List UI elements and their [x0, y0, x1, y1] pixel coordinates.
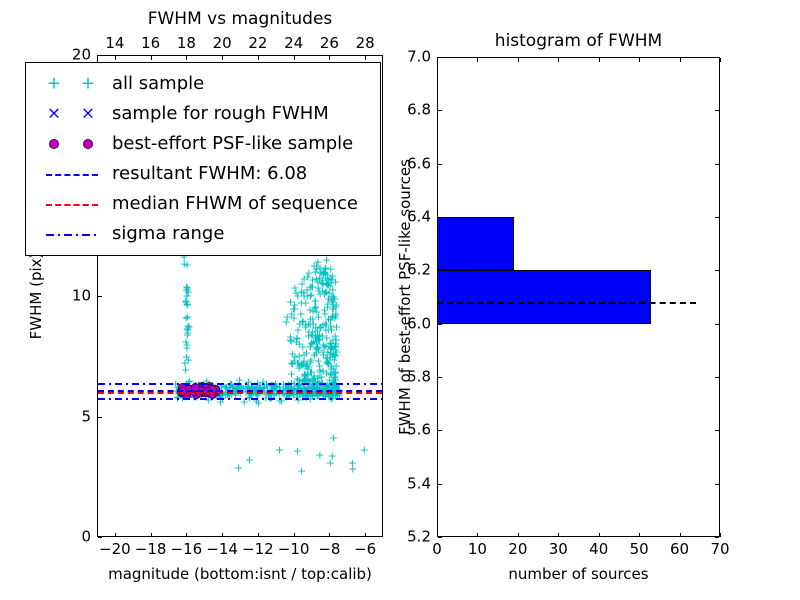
- scatter-point-all-sample: +: [184, 355, 193, 366]
- right-yaxis-label: FWHM of best-effort PSF-like sources: [397, 159, 413, 435]
- scatter-point-all-sample: +: [286, 331, 295, 342]
- scatter-point-all-sample: +: [182, 352, 191, 363]
- legend-item[interactable]: best-effort PSF-like sample: [34, 129, 370, 159]
- scatter-point-all-sample: +: [329, 348, 338, 359]
- histogram-median-line: [437, 302, 696, 304]
- scatter-point-all-sample: +: [310, 350, 319, 361]
- scatter-point-all-sample: +: [286, 335, 295, 346]
- scatter-point-all-sample: +: [330, 312, 339, 323]
- right-xtick-top: [639, 58, 640, 62]
- legend-item-label: sigma range: [112, 224, 224, 244]
- scatter-point-all-sample: +: [322, 333, 331, 344]
- legend-item-label: all sample: [112, 74, 204, 94]
- scatter-point-all-sample: +: [326, 341, 335, 352]
- scatter-point-all-sample: +: [309, 370, 318, 381]
- scatter-point-all-sample: +: [296, 308, 305, 319]
- scatter-point-all-sample: +: [328, 291, 337, 302]
- scatter-point-all-sample: +: [328, 284, 337, 295]
- scatter-point-all-sample: +: [320, 318, 329, 329]
- scatter-point-all-sample: +: [323, 347, 332, 358]
- scatter-point-all-sample: +: [306, 291, 315, 302]
- left-xtick-bottom: [151, 533, 152, 537]
- scatter-point-all-sample: +: [326, 360, 335, 371]
- legend-item[interactable]: resultant FWHM: 6.08: [34, 159, 370, 189]
- scatter-point-all-sample: +: [328, 351, 337, 362]
- scatter-point-all-sample: +: [298, 358, 307, 369]
- scatter-point-all-sample: +: [298, 278, 307, 289]
- right-xtick-top: [518, 58, 519, 62]
- histogram-bar: [437, 217, 514, 270]
- scatter-point-all-sample: +: [313, 257, 322, 268]
- right-xtick-label: 40: [589, 542, 608, 557]
- scatter-point-all-sample: +: [331, 331, 340, 342]
- left-xtick-top: [258, 56, 259, 60]
- right-ytick-right: [715, 377, 719, 378]
- scatter-point-all-sample: +: [320, 288, 329, 299]
- scatter-point-all-sample: +: [298, 341, 307, 352]
- scatter-point-all-sample: +: [328, 297, 337, 308]
- scatter-point-all-sample: +: [319, 268, 328, 279]
- scatter-point-all-sample: +: [326, 273, 335, 284]
- scatter-point-all-sample: +: [323, 358, 332, 369]
- scatter-point-all-sample: +: [182, 284, 191, 295]
- left-ytick: [98, 296, 102, 297]
- scatter-point-all-sample: +: [303, 271, 312, 282]
- scatter-point-all-sample: +: [182, 285, 191, 296]
- left-xtick-bottom: [186, 533, 187, 537]
- scatter-point-all-sample: +: [311, 323, 320, 334]
- plus-icon: +: [47, 76, 61, 93]
- left-xtick-top: [365, 56, 366, 60]
- scatter-point-all-sample: +: [312, 273, 321, 284]
- scatter-point-all-sample: +: [180, 258, 189, 269]
- scatter-point-all-sample: +: [318, 331, 327, 342]
- left-xtick-bottom: [329, 533, 330, 537]
- scatter-point-all-sample: +: [314, 372, 323, 383]
- scatter-point-all-sample: +: [307, 339, 316, 350]
- legend-item[interactable]: ××sample for rough FWHM: [34, 99, 370, 129]
- scatter-point-all-sample: +: [180, 358, 189, 369]
- scatter-point-all-sample: +: [308, 329, 317, 340]
- legend-item-label: best-effort PSF-like sample: [112, 134, 353, 154]
- legend-item[interactable]: median FHWM of sequence: [34, 189, 370, 219]
- scatter-point-all-sample: +: [301, 369, 310, 380]
- scatter-point-all-sample: +: [318, 274, 327, 285]
- left-xtick-label-bottom: −18: [135, 542, 167, 557]
- scatter-point-all-sample: +: [183, 299, 192, 310]
- scatter-point-all-sample: +: [318, 320, 327, 331]
- scatter-point-all-sample: +: [319, 340, 328, 351]
- scatter-point-all-sample: +: [325, 288, 334, 299]
- right-xtick-top: [680, 58, 681, 62]
- scatter-point-all-sample: +: [306, 367, 315, 378]
- scatter-point-all-sample: +: [183, 312, 192, 323]
- right-xtick: [558, 533, 559, 537]
- cross-icon: ×: [81, 106, 95, 123]
- right-ytick-label: 5.4: [407, 476, 431, 491]
- scatter-point-all-sample: +: [301, 320, 310, 331]
- scatter-point-all-sample: +: [318, 347, 327, 358]
- scatter-point-all-sample: +: [319, 279, 328, 290]
- right-ytick-label: 7.0: [407, 50, 431, 65]
- scatter-point-all-sample: +: [313, 372, 322, 383]
- scatter-point-all-sample: +: [312, 307, 321, 318]
- left-xtick-bottom: [258, 533, 259, 537]
- scatter-point-all-sample: +: [313, 342, 322, 353]
- scatter-point-all-sample: +: [307, 367, 316, 378]
- right-ytick-right: [715, 537, 719, 538]
- left-ytick: [98, 55, 102, 56]
- scatter-point-all-sample: +: [287, 335, 296, 346]
- scatter-point-all-sample: +: [325, 380, 334, 391]
- scatter-point-all-sample: +: [297, 359, 306, 370]
- right-plot-data-layer: [438, 58, 719, 536]
- scatter-point-all-sample: +: [183, 325, 192, 336]
- scatter-point-all-sample: +: [316, 268, 325, 279]
- left-ytick: [98, 537, 102, 538]
- scatter-point-all-sample: +: [183, 327, 192, 338]
- scatter-point-all-sample: +: [295, 318, 304, 329]
- scatter-point-all-sample: +: [289, 356, 298, 367]
- left-xtick-label-top: 18: [177, 36, 196, 51]
- right-ytick: [438, 110, 442, 111]
- left-xtick-top: [294, 56, 295, 60]
- scatter-point-all-sample: +: [323, 269, 332, 280]
- scatter-point-all-sample: +: [327, 341, 336, 352]
- scatter-point-all-sample: +: [297, 298, 306, 309]
- legend-item[interactable]: ++all sample: [34, 69, 370, 99]
- scatter-point-all-sample: +: [328, 303, 337, 314]
- legend-item-label: resultant FWHM: 6.08: [112, 164, 307, 184]
- scatter-point-all-sample: +: [326, 343, 335, 354]
- scatter-point-all-sample: +: [331, 339, 340, 350]
- scatter-point-all-sample: +: [309, 318, 318, 329]
- right-xtick-label: 70: [710, 542, 729, 557]
- scatter-point-all-sample: +: [327, 342, 336, 353]
- right-xtick: [639, 533, 640, 537]
- scatter-point-all-sample: +: [311, 302, 320, 313]
- scatter-point-all-sample: +: [298, 317, 307, 328]
- plus-icon: +: [81, 76, 95, 93]
- scatter-point-all-sample: +: [320, 266, 329, 277]
- scatter-point-all-sample: +: [326, 350, 335, 361]
- scatter-point-all-sample: +: [183, 259, 192, 270]
- scatter-point-all-sample: +: [325, 354, 334, 365]
- left-xtick-label-bottom: −14: [206, 542, 238, 557]
- scatter-point-all-sample: +: [275, 444, 284, 455]
- scatter-point-all-sample: +: [319, 349, 328, 360]
- left-xtick-label-top: 14: [105, 36, 124, 51]
- scatter-point-all-sample: +: [332, 347, 341, 358]
- scatter-point-all-sample: +: [329, 303, 338, 314]
- scatter-point-all-sample: +: [293, 358, 302, 369]
- scatter-point-all-sample: +: [313, 326, 322, 337]
- scatter-point-all-sample: +: [328, 311, 337, 322]
- scatter-point-all-sample: +: [295, 361, 304, 372]
- right-ytick: [438, 164, 442, 165]
- scatter-point-all-sample: +: [321, 272, 330, 283]
- right-xtick: [680, 533, 681, 537]
- scatter-point-all-sample: +: [331, 302, 340, 313]
- scatter-point-all-sample: +: [311, 332, 320, 343]
- legend-handle-plus-marker: ++: [34, 69, 112, 99]
- scatter-point-all-sample: +: [323, 279, 332, 290]
- scatter-point-all-sample: +: [309, 261, 318, 272]
- scatter-point-all-sample: +: [314, 344, 323, 355]
- right-xtick-top: [558, 58, 559, 62]
- scatter-point-all-sample: +: [322, 286, 331, 297]
- right-ytick: [438, 484, 442, 485]
- right-xtick-label: 50: [630, 542, 649, 557]
- left-xtick-bottom: [222, 533, 223, 537]
- scatter-point-all-sample: +: [306, 341, 315, 352]
- left-xtick-label-top: 28: [356, 36, 375, 51]
- scatter-point-all-sample: +: [310, 350, 319, 361]
- scatter-point-all-sample: +: [318, 267, 327, 278]
- left-xtick-label-top: 20: [213, 36, 232, 51]
- scatter-point-all-sample: +: [328, 270, 337, 281]
- scatter-point-all-sample: +: [312, 348, 321, 359]
- left-ytick-label: 0: [81, 530, 91, 545]
- left-xtick-top: [222, 56, 223, 60]
- left-yaxis-label: FWHM (pix): [28, 253, 44, 340]
- scatter-point-all-sample: +: [308, 313, 317, 324]
- hline-median-fhwm-of-sequence: [98, 392, 382, 394]
- scatter-point-all-sample: +: [286, 297, 295, 308]
- dashed-line-icon: [46, 204, 98, 206]
- scatter-point-all-sample: +: [311, 330, 320, 341]
- scatter-point-all-sample: +: [294, 358, 303, 369]
- scatter-point-all-sample: +: [305, 304, 314, 315]
- right-ytick-right: [715, 324, 719, 325]
- scatter-point-all-sample: +: [331, 311, 340, 322]
- cross-icon: ×: [47, 106, 61, 123]
- scatter-point-all-sample: +: [182, 290, 191, 301]
- scatter-point-all-sample: +: [323, 352, 332, 363]
- right-xtick: [518, 533, 519, 537]
- right-ytick-right: [715, 430, 719, 431]
- right-ytick-right: [715, 217, 719, 218]
- scatter-point-all-sample: +: [328, 450, 337, 461]
- scatter-point-all-sample: +: [182, 312, 191, 323]
- scatter-point-all-sample: +: [317, 267, 326, 278]
- scatter-point-all-sample: +: [314, 334, 323, 345]
- scatter-point-all-sample: +: [331, 342, 340, 353]
- scatter-point-all-sample: +: [295, 351, 304, 362]
- scatter-point-all-sample: +: [331, 309, 340, 320]
- scatter-point-all-sample: +: [329, 291, 338, 302]
- scatter-point-all-sample: +: [283, 311, 292, 322]
- scatter-point-all-sample: +: [306, 341, 315, 352]
- scatter-point-all-sample: +: [290, 351, 299, 362]
- scatter-point-all-sample: +: [317, 278, 326, 289]
- right-xtick-top: [720, 58, 721, 62]
- scatter-point-all-sample: +: [331, 277, 340, 288]
- scatter-point-all-sample: +: [297, 287, 306, 298]
- scatter-point-all-sample: +: [321, 340, 330, 351]
- right-ytick-right: [715, 164, 719, 165]
- scatter-point-all-sample: +: [330, 340, 339, 351]
- dashdot-line-icon: [46, 234, 98, 236]
- scatter-point-all-sample: +: [302, 361, 311, 372]
- scatter-point-all-sample: +: [312, 264, 321, 275]
- scatter-point-all-sample: +: [314, 282, 323, 293]
- scatter-point-all-sample: +: [303, 369, 312, 380]
- right-ytick: [438, 324, 442, 325]
- scatter-point-all-sample: +: [321, 352, 330, 363]
- scatter-point-all-sample: +: [301, 322, 310, 333]
- scatter-point-all-sample: +: [348, 463, 357, 474]
- scatter-point-all-sample: +: [329, 432, 338, 443]
- scatter-point-all-sample: +: [294, 395, 303, 406]
- right-xtick-label: 20: [508, 542, 527, 557]
- scatter-point-all-sample: +: [330, 355, 339, 366]
- scatter-point-all-sample: +: [294, 380, 303, 391]
- scatter-point-all-sample: +: [320, 305, 329, 316]
- scatter-point-all-sample: +: [320, 268, 329, 279]
- scatter-point-all-sample: +: [325, 280, 334, 291]
- scatter-point-all-sample: +: [184, 320, 193, 331]
- hline-sigma-range-lower: [98, 398, 382, 400]
- scatter-point-all-sample: +: [312, 336, 321, 347]
- scatter-point-all-sample: +: [326, 338, 335, 349]
- scatter-point-all-sample: +: [327, 274, 336, 285]
- scatter-point-all-sample: +: [348, 457, 357, 468]
- scatter-point-all-sample: +: [306, 314, 315, 325]
- scatter-point-all-sample: +: [315, 449, 324, 460]
- scatter-point-all-sample: +: [306, 330, 315, 341]
- scatter-point-all-sample: +: [319, 366, 328, 377]
- scatter-point-all-sample: +: [299, 287, 308, 298]
- scatter-point-all-sample: +: [301, 361, 310, 372]
- scatter-point-all-sample: +: [304, 331, 313, 342]
- left-xtick-top: [151, 56, 152, 60]
- scatter-point-all-sample: +: [181, 336, 190, 347]
- scatter-point-all-sample: +: [182, 290, 191, 301]
- scatter-point-all-sample: +: [303, 364, 312, 375]
- left-xtick-label-bottom: −20: [99, 542, 131, 557]
- right-xtick-label: 0: [432, 542, 442, 557]
- legend-item-label: median FHWM of sequence: [112, 194, 358, 214]
- scatter-point-all-sample: +: [307, 282, 316, 293]
- scatter-point-all-sample: +: [326, 315, 335, 326]
- scatter-point-all-sample: +: [324, 294, 333, 305]
- scatter-point-all-sample: +: [300, 350, 309, 361]
- right-ytick-label: 5.2: [407, 530, 431, 545]
- right-ytick: [438, 377, 442, 378]
- right-xtick: [599, 533, 600, 537]
- right-ytick-right: [715, 270, 719, 271]
- right-xtick: [720, 533, 721, 537]
- scatter-point-all-sample: +: [330, 372, 339, 383]
- scatter-point-all-sample: +: [322, 368, 331, 379]
- scatter-point-all-sample: +: [315, 272, 324, 283]
- scatter-point-all-sample: +: [301, 377, 310, 388]
- legend-handle-dashdot-line: [34, 219, 112, 249]
- left-xtick-label-top: 16: [141, 36, 160, 51]
- scatter-point-all-sample: +: [315, 262, 324, 273]
- scatter-point-all-sample: +: [295, 339, 304, 350]
- scatter-point-all-sample: +: [321, 324, 330, 335]
- scatter-point-all-sample: +: [307, 338, 316, 349]
- circle-icon: [49, 139, 59, 149]
- scatter-point-all-sample: +: [321, 263, 330, 274]
- scatter-point-all-sample: +: [311, 295, 320, 306]
- right-xtick-top: [437, 58, 438, 62]
- scatter-point-all-sample: +: [324, 358, 333, 369]
- scatter-point-all-sample: +: [313, 277, 322, 288]
- scatter-point-all-sample: +: [330, 293, 339, 304]
- scatter-point-all-sample: +: [304, 361, 313, 372]
- scatter-point-all-sample: +: [182, 282, 191, 293]
- scatter-point-all-sample: +: [326, 320, 335, 331]
- scatter-point-all-sample: +: [308, 282, 317, 293]
- scatter-point-all-sample: +: [311, 377, 320, 388]
- scatter-point-all-sample: +: [291, 287, 300, 298]
- left-ytick-label: 20: [72, 48, 91, 63]
- scatter-point-all-sample: +: [327, 370, 336, 381]
- right-xtick-label: 10: [468, 542, 487, 557]
- scatter-point-all-sample: +: [331, 339, 340, 350]
- scatter-point-all-sample: +: [305, 319, 314, 330]
- scatter-point-all-sample: +: [326, 368, 335, 379]
- scatter-point-all-sample: +: [293, 325, 302, 336]
- scatter-point-all-sample: +: [182, 299, 191, 310]
- left-xtick-top: [329, 56, 330, 60]
- scatter-point-all-sample: +: [304, 319, 313, 330]
- legend-handle-cross-marker: ××: [34, 99, 112, 129]
- scatter-point-all-sample: +: [287, 308, 296, 319]
- scatter-point-all-sample: +: [305, 282, 314, 293]
- scatter-point-all-sample: +: [324, 313, 333, 324]
- scatter-point-all-sample: +: [182, 339, 191, 350]
- scatter-point-all-sample: +: [183, 283, 192, 294]
- right-ytick: [438, 537, 442, 538]
- scatter-point-all-sample: +: [300, 371, 309, 382]
- scatter-point-all-sample: +: [289, 303, 298, 314]
- scatter-point-all-sample: +: [324, 279, 333, 290]
- left-xtick-top: [186, 56, 187, 60]
- scatter-point-all-sample: +: [360, 444, 369, 455]
- scatter-point-all-sample: +: [332, 300, 341, 311]
- scatter-point-all-sample: +: [287, 357, 296, 368]
- scatter-point-all-sample: +: [303, 285, 312, 296]
- scatter-point-all-sample: +: [324, 325, 333, 336]
- legend-handle-dashed-line: [34, 189, 112, 219]
- scatter-point-all-sample: +: [308, 274, 317, 285]
- left-xtick-label-top: 22: [248, 36, 267, 51]
- scatter-point-all-sample: +: [326, 458, 335, 469]
- left-xtick-label-top: 26: [320, 36, 339, 51]
- scatter-point-all-sample: +: [290, 303, 299, 314]
- scatter-point-all-sample: +: [292, 336, 301, 347]
- circle-icon: [83, 139, 93, 149]
- scatter-point-all-sample: +: [299, 359, 308, 370]
- scatter-point-all-sample: +: [181, 295, 190, 306]
- left-xtick-label-bottom: −16: [171, 542, 203, 557]
- scatter-point-all-sample: +: [288, 358, 297, 369]
- scatter-point-all-sample: +: [300, 369, 309, 380]
- scatter-point-all-sample: +: [326, 263, 335, 274]
- scatter-point-all-sample: +: [302, 348, 311, 359]
- scatter-point-all-sample: +: [183, 330, 192, 341]
- scatter-point-all-sample: +: [293, 446, 302, 457]
- legend-item[interactable]: sigma range: [34, 219, 370, 249]
- scatter-point-all-sample: +: [330, 371, 339, 382]
- scatter-point-all-sample: +: [330, 366, 339, 377]
- scatter-point-all-sample: +: [321, 286, 330, 297]
- scatter-point-all-sample: +: [327, 364, 336, 375]
